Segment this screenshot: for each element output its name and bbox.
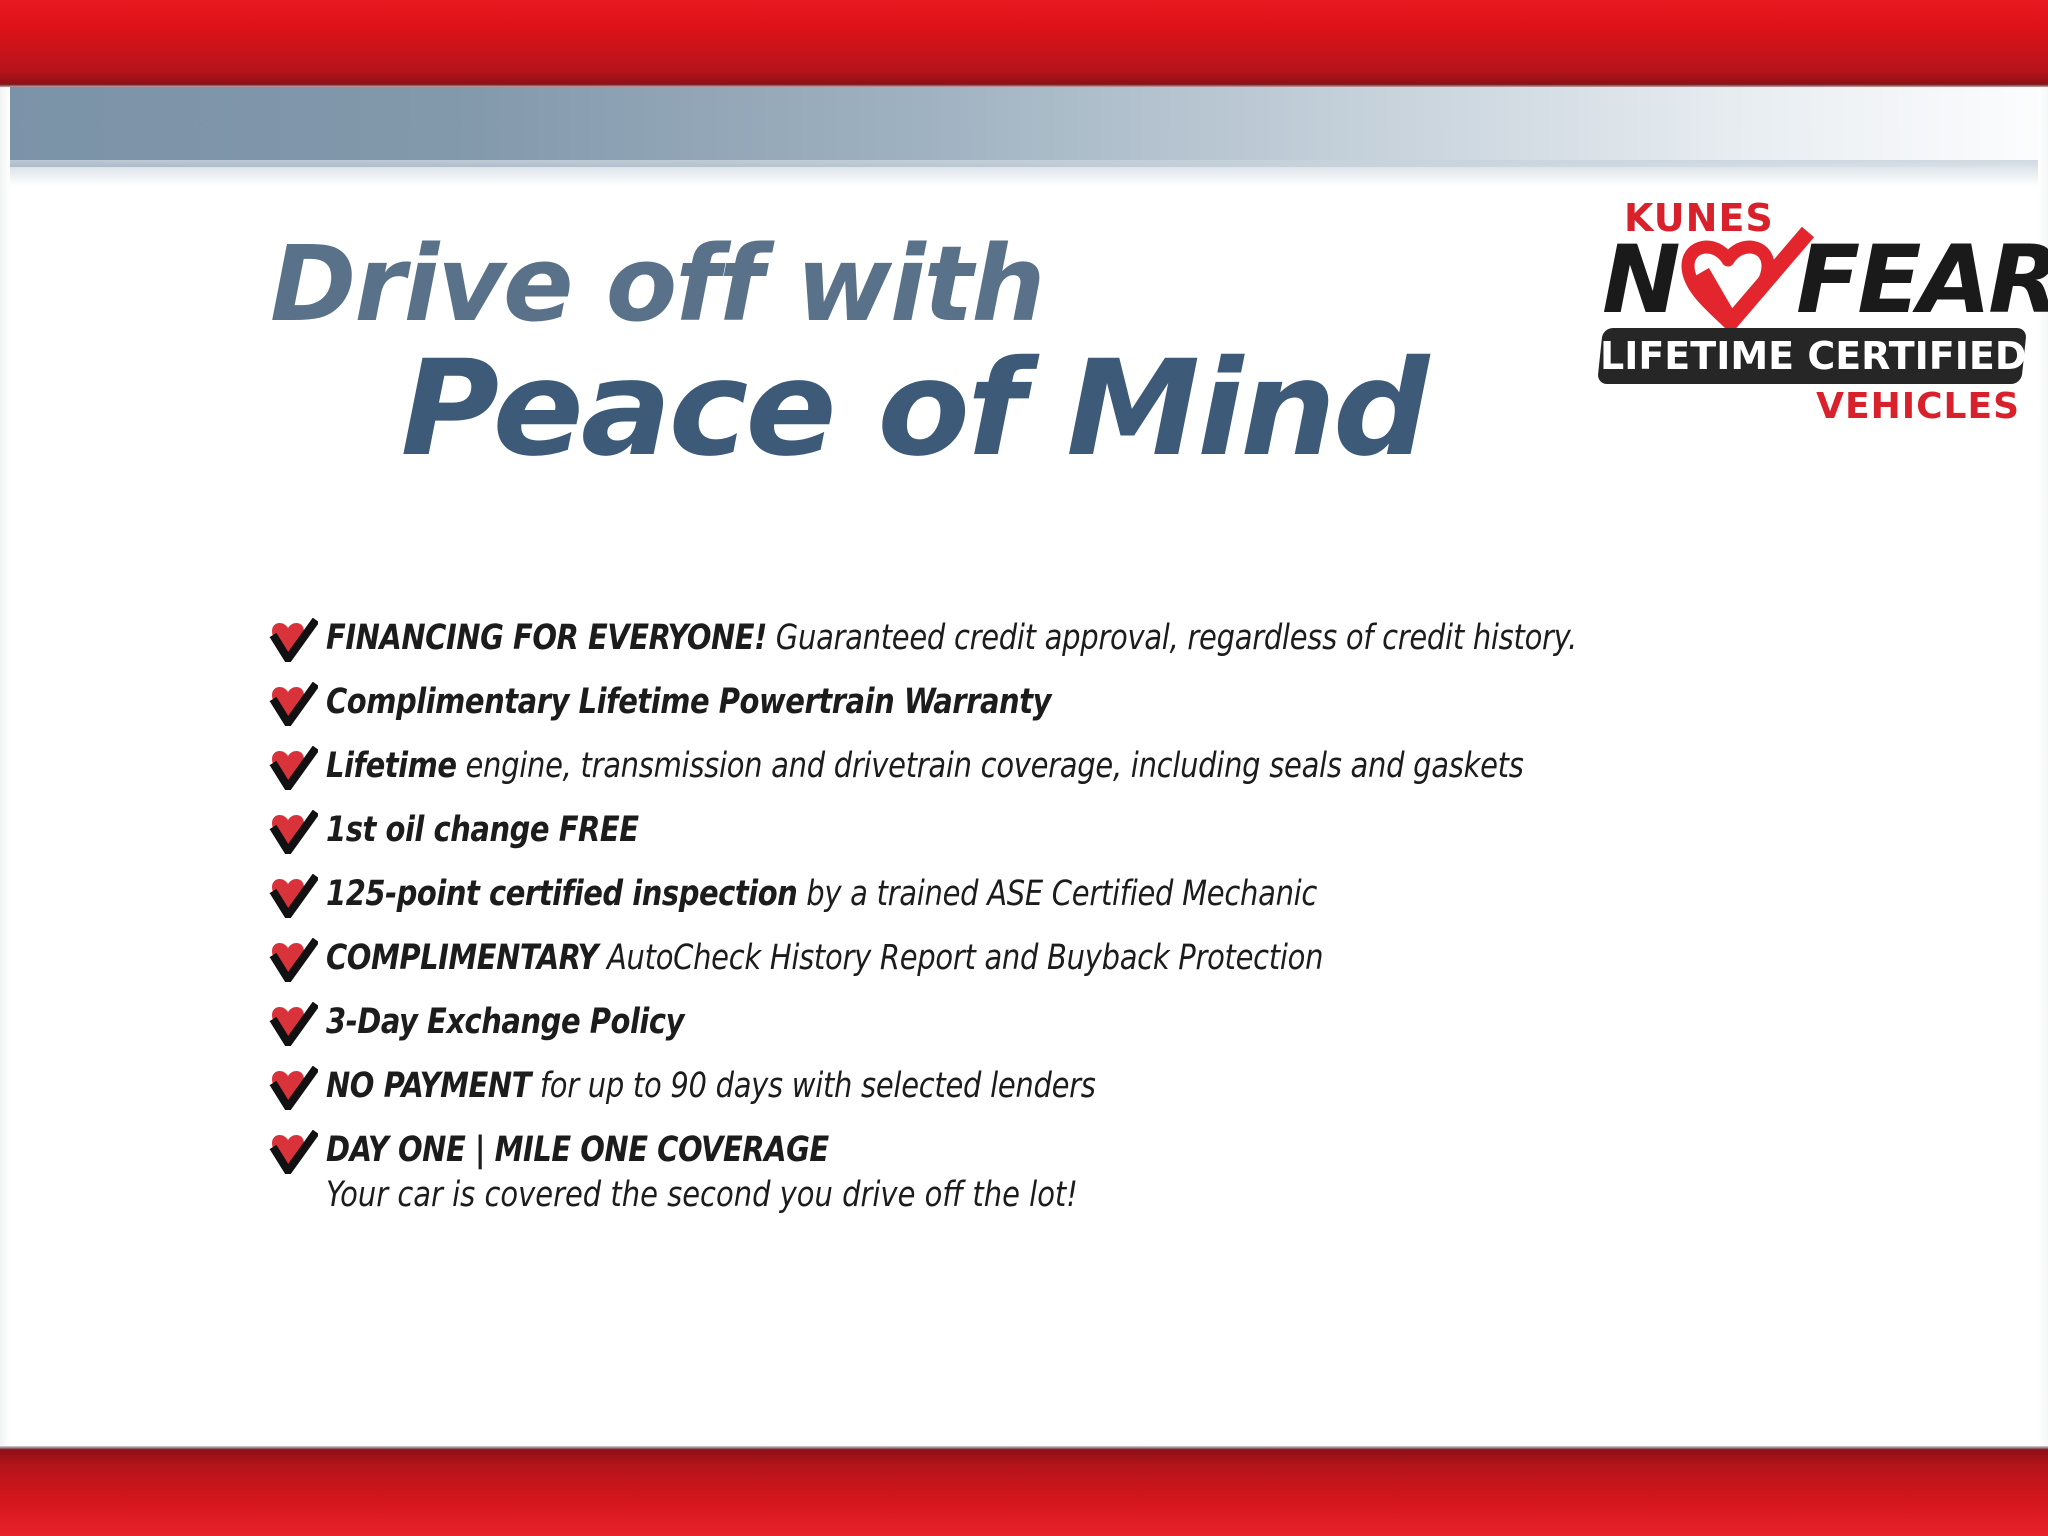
list-item-strong: Lifetime [326, 746, 457, 786]
list-item: 3-Day Exchange Policy [266, 1000, 1866, 1064]
list-item: DAY ONE | MILE ONE COVERAGE Your car is … [266, 1128, 1866, 1228]
logo-word-vehicles: VEHICLES [1816, 386, 2020, 427]
heart-check-bullet-icon [266, 1130, 318, 1174]
benefits-list: FINANCING FOR EVERYONE! Guaranteed credi… [266, 616, 1866, 1228]
heart-check-bullet-icon [266, 874, 318, 918]
logo-word-fear: FEAR [1796, 234, 2048, 328]
heart-check-bullet-icon [266, 1002, 318, 1046]
heart-check-bullet-icon [266, 810, 318, 854]
list-item-text: Complimentary Lifetime Powertrain Warran… [326, 680, 1051, 724]
list-item: 1st oil change FREE [266, 808, 1866, 872]
list-item-strong: 3-Day Exchange Policy [326, 1002, 684, 1042]
left-edge [0, 87, 10, 1446]
list-item-normal: for up to 90 days with selected lenders [531, 1066, 1096, 1106]
list-item-strong: 1st oil change FREE [326, 810, 639, 850]
list-item-text: COMPLIMENTARY AutoCheck History Report a… [326, 936, 1323, 980]
list-item: FINANCING FOR EVERYONE! Guaranteed credi… [266, 616, 1866, 680]
list-item-strong: NO PAYMENT [326, 1066, 531, 1106]
list-item: COMPLIMENTARY AutoCheck History Report a… [266, 936, 1866, 1000]
list-item-normal: AutoCheck History Report and Buyback Pro… [598, 938, 1323, 978]
top-slate-fade [0, 160, 2048, 186]
list-item-text: DAY ONE | MILE ONE COVERAGE [326, 1128, 1078, 1172]
heart-check-bullet-icon [266, 746, 318, 790]
list-item-strong: Complimentary Lifetime Powertrain Warran… [326, 682, 1051, 722]
list-item-stacked-text: DAY ONE | MILE ONE COVERAGE Your car is … [326, 1128, 1143, 1218]
list-item-strong: DAY ONE | MILE ONE COVERAGE [326, 1130, 829, 1170]
logo-lifetime-certified-bar: LIFETIME CERTIFIED [1597, 328, 2027, 384]
list-item-normal: engine, transmission and drivetrain cove… [457, 746, 1524, 786]
list-item-text: FINANCING FOR EVERYONE! Guaranteed credi… [326, 616, 1577, 660]
headline-line-one: Drive off with [270, 232, 1450, 336]
list-item-text: 1st oil change FREE [326, 808, 639, 852]
list-item-text: Lifetime engine, transmission and drivet… [326, 744, 1524, 788]
top-red-band [0, 0, 2048, 84]
heart-check-bullet-icon [266, 1066, 318, 1110]
headline-block: Drive off with Peace of Mind [270, 232, 1450, 477]
list-item-text: 125-point certified inspection by a trai… [326, 872, 1317, 916]
list-item-strong: COMPLIMENTARY [326, 938, 598, 978]
logo-letter-n: N [1602, 234, 1677, 328]
list-item-normal: Guaranteed credit approval, regardless o… [767, 618, 1577, 658]
list-item-strong: 125-point certified inspection [326, 874, 797, 914]
list-item-text: 3-Day Exchange Policy [326, 1000, 684, 1044]
list-item: Complimentary Lifetime Powertrain Warran… [266, 680, 1866, 744]
bottom-red-band [0, 1450, 2048, 1536]
headline-line-two: Peace of Mind [270, 342, 1474, 477]
heart-check-bullet-icon [266, 938, 318, 982]
list-item-normal: by a trained ASE Certified Mechanic [797, 874, 1317, 914]
list-item: Lifetime engine, transmission and drivet… [266, 744, 1866, 808]
heart-check-bullet-icon [266, 618, 318, 662]
kunes-no-fear-logo: KUNES N FEAR LIFETIME CERTIFIED VEHICLES [1596, 196, 2026, 426]
list-item-text: NO PAYMENT for up to 90 days with select… [326, 1064, 1096, 1108]
top-slate-gradient-band [0, 87, 2048, 167]
list-item-subtext: Your car is covered the second you drive… [326, 1172, 1078, 1218]
logo-lifetime-certified-label: LIFETIME CERTIFIED [1600, 328, 2024, 384]
list-item: 125-point certified inspection by a trai… [266, 872, 1866, 936]
heart-check-bullet-icon [266, 682, 318, 726]
peace-of-mind-poster: Drive off with Peace of Mind KUNES N FEA… [0, 0, 2048, 1536]
list-item-strong: FINANCING FOR EVERYONE! [326, 618, 767, 658]
logo-wordmark: N FEAR [1600, 232, 2026, 334]
list-item: NO PAYMENT for up to 90 days with select… [266, 1064, 1866, 1128]
